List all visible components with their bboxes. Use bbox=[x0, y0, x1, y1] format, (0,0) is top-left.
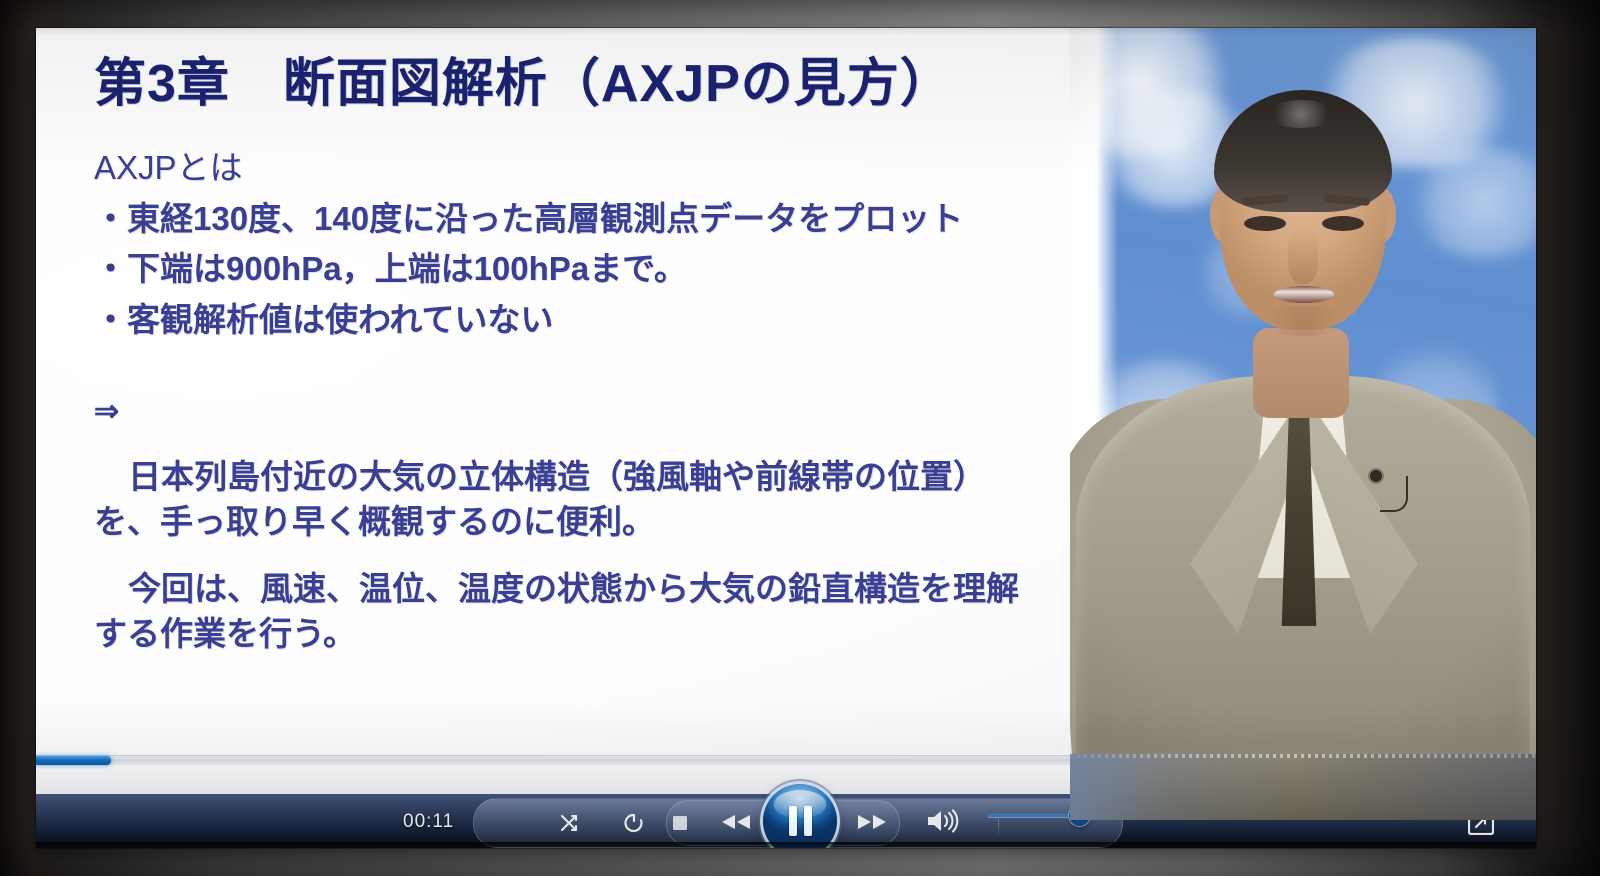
pause-icon bbox=[789, 806, 812, 836]
presenter-figure bbox=[1070, 28, 1536, 754]
player-frame: 第3章 断面図解析（AXJPの見方） AXJPとは ・東経130度、140度に沿… bbox=[36, 28, 1536, 848]
neck bbox=[1253, 328, 1349, 418]
fast-forward-icon bbox=[855, 813, 889, 831]
eye-left bbox=[1244, 216, 1286, 231]
video-panel[interactable] bbox=[1070, 28, 1536, 754]
elapsed-time-label: 00:11 bbox=[403, 811, 454, 833]
rewind-icon bbox=[719, 813, 753, 831]
media-player-window: 第3章 断面図解析（AXJPの見方） AXJPとは ・東経130度、140度に沿… bbox=[0, 0, 1600, 876]
chin-shadow bbox=[1256, 306, 1352, 336]
slide-paragraph-1: 日本列島付近の大気の立体構造（強風軸や前線帯の位置）を、手っ取り早く概観するのに… bbox=[94, 455, 1044, 545]
video-overlap-region bbox=[1070, 754, 1536, 820]
volume-icon bbox=[925, 808, 959, 834]
overlap-fade bbox=[1070, 754, 1536, 820]
eye-right bbox=[1322, 216, 1364, 231]
pause-bar-right bbox=[804, 806, 812, 836]
shuffle-button[interactable] bbox=[552, 808, 586, 838]
slide-paragraph-2: 今回は、風速、温位、温度の状態から大気の鉛直構造を理解する作業を行う。 bbox=[94, 567, 1044, 657]
nose bbox=[1288, 228, 1318, 284]
volume-button[interactable] bbox=[922, 806, 962, 836]
hair-highlight bbox=[1266, 100, 1336, 128]
pause-bar-left bbox=[789, 806, 797, 836]
expand-icon bbox=[1468, 822, 1494, 839]
shuffle-icon bbox=[557, 811, 581, 835]
pause-button[interactable] bbox=[763, 784, 837, 848]
rewind-button[interactable] bbox=[719, 807, 753, 837]
fast-forward-button[interactable] bbox=[855, 807, 889, 837]
control-bar-shadow bbox=[36, 842, 1536, 848]
mouth bbox=[1274, 286, 1334, 303]
repeat-icon bbox=[622, 811, 646, 835]
microphone-wire bbox=[1380, 476, 1408, 512]
seek-bar-fill bbox=[36, 756, 111, 765]
repeat-button[interactable] bbox=[617, 808, 651, 838]
